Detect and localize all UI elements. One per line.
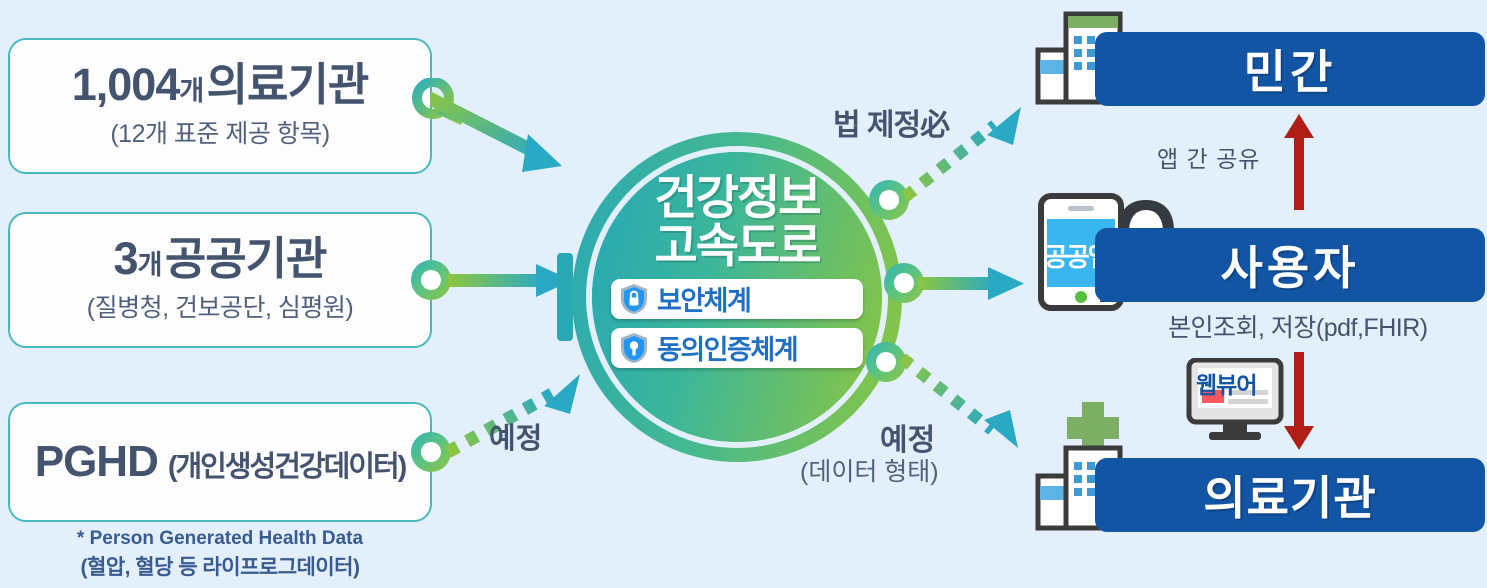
consumer-label: 의료기관 [1203, 462, 1376, 528]
user-capabilities-caption: 본인조회, 저장(pdf,FHIR) [1168, 308, 1428, 344]
source-unit: 개 [179, 76, 203, 106]
hub-core: 건강정보 고속도로 보안체계 동의인증체계 [592, 152, 882, 442]
source-label: 공공기관 [165, 233, 327, 284]
source-unit: 개 [138, 250, 162, 280]
web-viewer-label: 웹뷰어 [1196, 366, 1256, 400]
shield-lock-icon [619, 283, 649, 315]
red-arrow-up-icon [1282, 114, 1316, 210]
shield-key-icon [619, 332, 649, 364]
source-card-title: 3개 공공기관 [114, 236, 327, 282]
node-ring-icon-public [411, 260, 451, 300]
hub-badge-consent: 동의인증체계 [611, 328, 863, 368]
source-card-subtitle: (질병청, 건보공단, 심평원) [87, 288, 353, 324]
label-app-sharing: 앱 간 공유 [1157, 140, 1260, 174]
label-outgoing-planned-sub: (데이터 형태) [800, 452, 939, 488]
hub-title-line-2: 고속도로 [655, 222, 820, 270]
consumer-bar-medical-institution: 의료기관 [1095, 458, 1485, 532]
red-arrow-down-icon [1282, 352, 1316, 450]
arrow-medical-to-hub [430, 88, 580, 178]
hub-badge-security: 보안체계 [611, 279, 863, 319]
infographic-canvas: 1,004개 의료기관 (12개 표준 제공 항목) 3개 공공기관 (질병청,… [0, 0, 1487, 588]
hub-badge-label: 보안체계 [657, 279, 750, 318]
pghd-footnote: * Person Generated Health Data (혈압, 혈당 등… [8, 528, 432, 581]
footnote-line-2: (혈압, 혈당 등 라이프로그데이터) [8, 551, 432, 581]
source-card-pghd: PGHD (개인생성건강데이터) [8, 402, 432, 522]
hub-title-line-1: 건강정보 [655, 174, 820, 222]
source-card-title: 1,004개 의료기관 [72, 62, 369, 108]
source-card-public-institutions: 3개 공공기관 (질병청, 건보공단, 심평원) [8, 212, 432, 348]
label-law-required: 법 제정必 [833, 100, 949, 144]
source-card-title: PGHD (개인생성건강데이터) [35, 437, 406, 487]
consumer-label: 사용자 [1221, 232, 1360, 298]
source-card-medical-institutions: 1,004개 의료기관 (12개 표준 제공 항목) [8, 38, 432, 174]
label-pghd-planned: 예정 [489, 415, 542, 457]
source-card-subtitle: (12개 표준 제공 항목) [110, 114, 329, 150]
hub-left-connector-bar [557, 253, 573, 341]
health-information-highway-hub: 건강정보 고속도로 보안체계 동의인증체계 [572, 132, 902, 462]
source-count: 3 [114, 233, 138, 284]
source-label: PGHD [35, 437, 158, 487]
source-count: 1,004 [72, 59, 180, 110]
consumer-bar-user: 사용자 [1095, 228, 1485, 302]
source-label: 의료기관 [207, 59, 369, 110]
consumer-label: 민간 [1244, 36, 1337, 102]
footnote-line-1: * Person Generated Health Data [8, 528, 432, 550]
hub-badge-label: 동의인증체계 [657, 328, 797, 367]
consumer-bar-private: 민간 [1095, 32, 1485, 106]
arrow-hub-to-user [918, 263, 1028, 305]
source-card-subtitle: (개인생성건강데이터) [168, 443, 405, 485]
